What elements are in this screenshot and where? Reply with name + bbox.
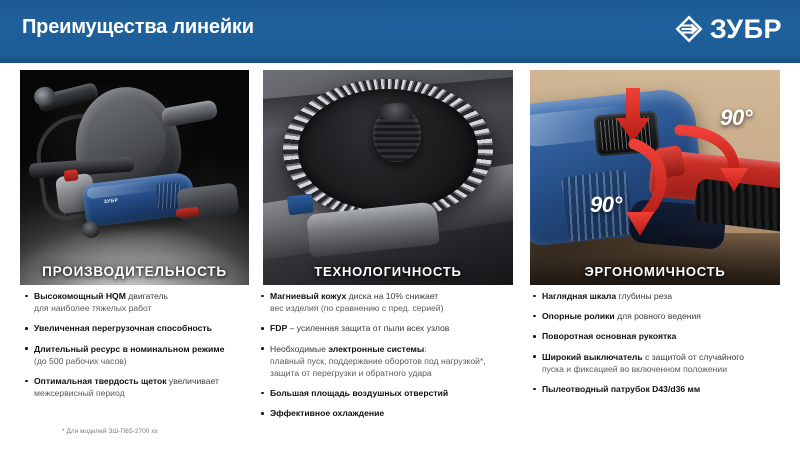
bullet-item: Необходимые электронные системы: плавный…: [258, 343, 514, 380]
bullet-sub: пуска и фиксацией во включенном положени…: [542, 364, 727, 374]
bullet-strong: электронные системы: [328, 344, 424, 354]
bullet-list-technology: Магниевый кожух диска на 10% снижает вес…: [258, 290, 514, 428]
caption-performance: ПРОИЗВОДИТЕЛЬНОСТЬ: [20, 264, 249, 279]
bullet-item: Оптимальная твердость щеток увеличивает …: [22, 375, 254, 399]
photo-performance: ЗУБР ПРОИЗВОДИТЕЛЬНОСТЬ: [20, 70, 249, 285]
bullet-item: Увеличенная перегрузочная способность: [22, 322, 254, 334]
bullet-strong: Высокомощный HQM: [34, 291, 126, 301]
bullet-strong: Пылеотводный патрубок D43/d36 мм: [542, 384, 700, 394]
bullet-rest: – усиленная защита от пыли всех узлов: [287, 323, 449, 333]
bullet-strong: Поворотная основная рукоятка: [542, 331, 676, 341]
rotation-arrows-icon: [530, 70, 780, 285]
photo-ergonomics: 90° 90° ЭРГОНОМИЧНОСТЬ: [530, 70, 780, 285]
page-title: Преимущества линейки: [22, 16, 254, 39]
bullet-sub-line: защита от перегрузки и обратного удара: [270, 368, 432, 378]
bullet-list-ergonomics: Наглядная шкала глубины реза Опорные рол…: [530, 290, 788, 403]
page-header: Преимущества линейки ЗУБР: [0, 0, 800, 58]
card-performance: ЗУБР ПРОИЗВОДИТЕЛЬНОСТЬ: [20, 70, 249, 285]
bullet-sub: (до 500 рабочих часов): [34, 356, 127, 366]
caption-technology: ТЕХНОЛОГИЧНОСТЬ: [263, 264, 513, 279]
bullet-item: Эффективное охлаждение: [258, 407, 514, 419]
bullet-rest: диска на 10% снижает: [346, 291, 438, 301]
bullet-item: Наглядная шкала глубины реза: [530, 290, 788, 302]
bullet-strong: Увеличенная перегрузочная способность: [34, 323, 212, 333]
bullet-rest: для ровного ведения: [615, 311, 701, 321]
bullet-suffix: :: [424, 344, 426, 354]
caption-ergonomics: ЭРГОНОМИЧНОСТЬ: [530, 264, 780, 279]
bullet-strong: Оптимальная твердость щеток: [34, 376, 167, 386]
bullet-strong: FDP: [270, 323, 287, 333]
bullet-item: Высокомощный HQM двигатель для наиболее …: [22, 290, 254, 314]
brand-name: ЗУБР: [710, 16, 782, 43]
photo-technology: ТЕХНОЛОГИЧНОСТЬ: [263, 70, 513, 285]
footnote: * Для моделей ЗШ-П65-2700 хх: [62, 428, 158, 435]
bullet-prefix: Необходимые: [270, 344, 328, 354]
bullet-item: Длительный ресурс в номинальном режиме (…: [22, 343, 254, 367]
bullet-item: Поворотная основная рукоятка: [530, 330, 788, 342]
bullet-sub: вес изделия (по сравнению с пред. серией…: [270, 303, 443, 313]
bullet-strong: Широкий выключатель: [542, 352, 643, 362]
slide-root: Преимущества линейки ЗУБР: [0, 0, 800, 450]
bullet-sub-line: плавный пуск, поддержание оборотов под н…: [270, 356, 486, 366]
bullet-item: Большая площадь воздушных отверстий: [258, 387, 514, 399]
zubr-diamond-icon: [674, 14, 704, 44]
card-technology: ТЕХНОЛОГИЧНОСТЬ: [263, 70, 513, 285]
bullet-strong: Наглядная шкала: [542, 291, 616, 301]
bullet-item: FDP – усиленная защита от пыли всех узло…: [258, 322, 514, 334]
bullet-sub: межсервисный период: [34, 388, 125, 398]
angle-label-right: 90°: [720, 105, 752, 131]
bullet-strong: Длительный ресурс в номинальном режиме: [34, 344, 224, 354]
bullet-sub: для наиболее тяжелых работ: [34, 303, 152, 313]
card-ergonomics: 90° 90° ЭРГОНОМИЧНОСТЬ: [530, 70, 780, 285]
bullet-item: Опорные ролики для ровного ведения: [530, 310, 788, 322]
bullet-list-performance: Высокомощный HQM двигатель для наиболее …: [22, 290, 254, 407]
bullet-item: Широкий выключатель с защитой от случайн…: [530, 351, 788, 375]
bullet-rest: глубины реза: [616, 291, 672, 301]
header-divider: [0, 58, 800, 63]
bullet-rest: увеличивает: [167, 376, 219, 386]
bullet-item: Пылеотводный патрубок D43/d36 мм: [530, 383, 788, 395]
bullet-strong: Опорные ролики: [542, 311, 615, 321]
bullet-rest: с защитой от случайного: [643, 352, 744, 362]
brand-logo: ЗУБР: [674, 12, 782, 46]
bullet-item: Магниевый кожух диска на 10% снижает вес…: [258, 290, 514, 314]
bullet-strong: Большая площадь воздушных отверстий: [270, 388, 448, 398]
bullet-strong: Эффективное охлаждение: [270, 408, 384, 418]
angle-label-left: 90°: [590, 192, 622, 218]
bullet-strong: Магниевый кожух: [270, 291, 346, 301]
bullet-rest: двигатель: [126, 291, 168, 301]
